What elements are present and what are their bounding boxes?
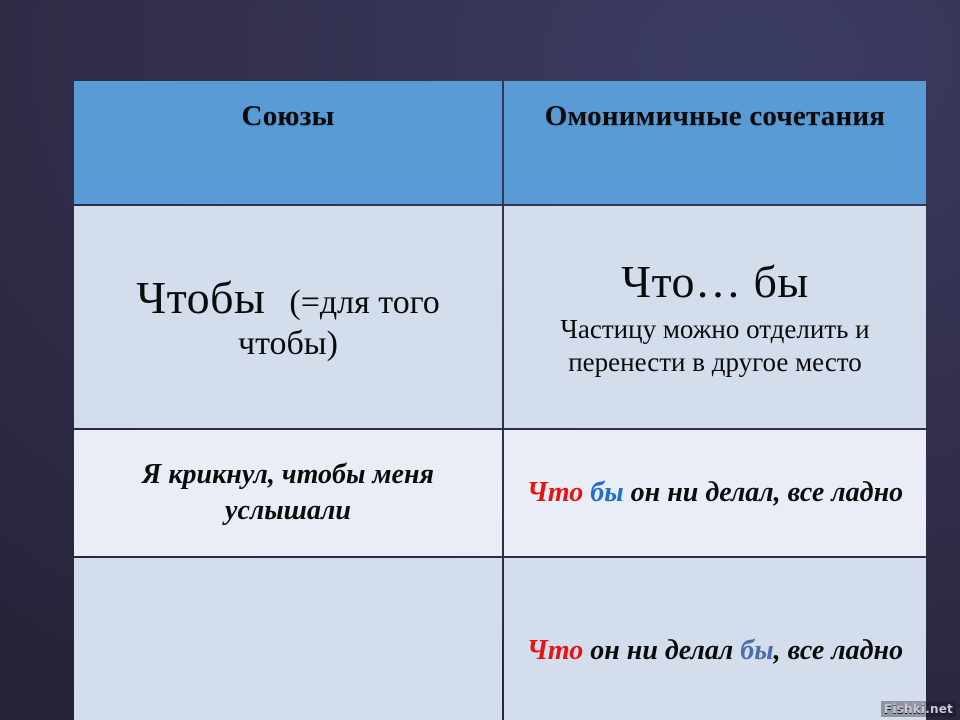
header-cell-conjunctions: Союзы [74, 81, 502, 204]
table-row: Я крикнул, чтобы меня услышали Что бы он… [74, 430, 926, 556]
rule-cell-chto-by: Что… бы Частицу можно отделить и перенес… [504, 206, 926, 428]
header-label-left: Союзы [82, 97, 494, 132]
example-sentence: Что он ни делал бы, все ладно [527, 635, 903, 666]
example-cell-homonym-1: Что бы он ни делал, все ладно [504, 430, 926, 556]
header-label-right: Омонимичные сочетания [512, 97, 918, 132]
example-middle: он ни делал [590, 635, 733, 666]
highlight-word-chto: Что [527, 635, 583, 666]
rule-main-phrase: Что… бы [621, 256, 809, 307]
example-cell-conjunction-2-empty [74, 558, 502, 720]
conjunctions-comparison-table: Союзы Омонимичные сочетания Чтобы (=для … [72, 79, 928, 720]
highlight-word-by: бы [740, 635, 773, 666]
example-tail: , все ладно [774, 635, 903, 666]
highlight-word-by: бы [590, 477, 623, 508]
rule-explanation: Частицу можно отделить и перенести в дру… [512, 313, 918, 379]
example-sentence: Что бы он ни делал, все ладно [527, 477, 903, 508]
highlight-word-chto: Что [527, 477, 583, 508]
example-sentence: Я крикнул, чтобы меня услышали [142, 459, 434, 526]
example-rest: он ни делал, все ладно [631, 477, 903, 508]
rule-main-word: Чтобы [136, 272, 265, 323]
table-row: Что он ни делал бы, все ладно [74, 558, 926, 720]
watermark-fishki: Fishki.net [881, 701, 956, 717]
rule-cell-chtoby: Чтобы (=для того чтобы) [74, 206, 502, 428]
slide-canvas: Союзы Омонимичные сочетания Чтобы (=для … [0, 0, 960, 720]
table-row: Чтобы (=для того чтобы) Что… бы Частицу … [74, 206, 926, 428]
example-cell-conjunction-1: Я крикнул, чтобы меня услышали [74, 430, 502, 556]
example-cell-homonym-2: Что он ни делал бы, все ладно [504, 558, 926, 720]
header-cell-homonymous: Омонимичные сочетания [504, 81, 926, 204]
table-header-row: Союзы Омонимичные сочетания [74, 81, 926, 204]
